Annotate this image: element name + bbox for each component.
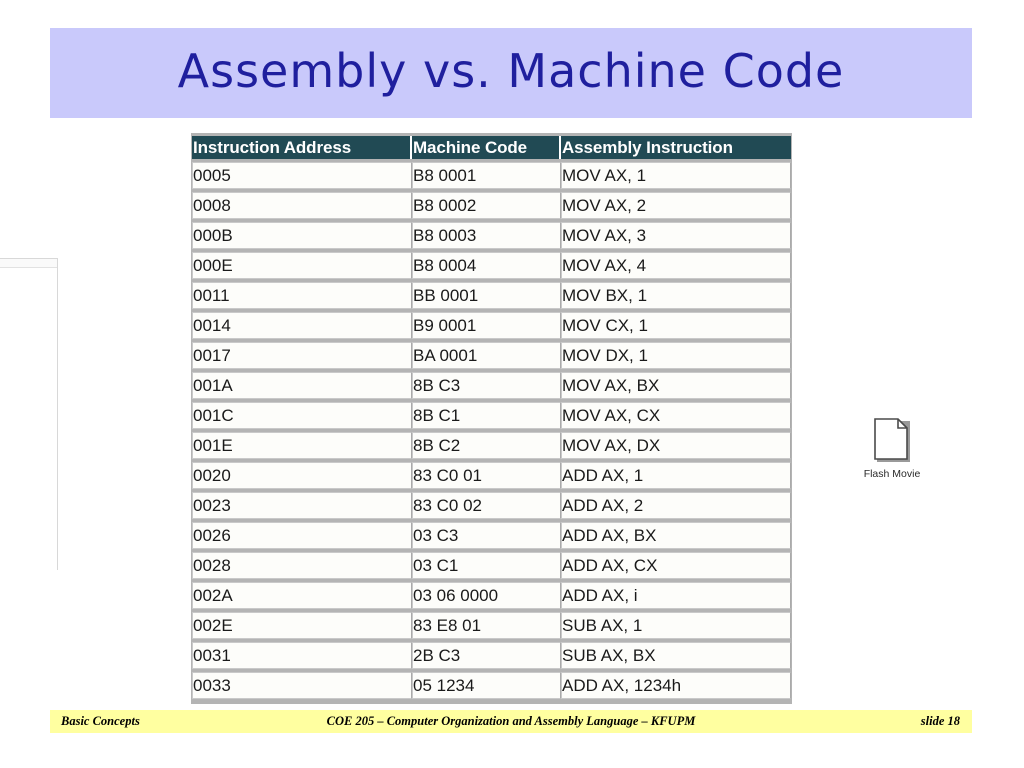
cell-assembly-instruction: MOV AX, 1 [561, 162, 791, 189]
flash-movie-label: Flash Movie [858, 468, 926, 480]
cell-assembly-instruction: ADD AX, 1 [561, 462, 791, 489]
cell-assembly-instruction: MOV AX, BX [561, 372, 791, 399]
cell-instruction-address: 0014 [192, 312, 412, 339]
cell-machine-code: 83 C0 02 [412, 492, 561, 519]
cell-instruction-address: 0017 [192, 342, 412, 369]
table-row: 0011BB 0001MOV BX, 1 [192, 282, 791, 309]
cell-machine-code: 2B C3 [412, 642, 561, 669]
table-body: 0005B8 0001MOV AX, 10008B8 0002MOV AX, 2… [192, 162, 791, 699]
cell-assembly-instruction: MOV AX, CX [561, 402, 791, 429]
table-row: 000EB8 0004MOV AX, 4 [192, 252, 791, 279]
cell-instruction-address: 0008 [192, 192, 412, 219]
cell-instruction-address: 0020 [192, 462, 412, 489]
cell-machine-code: 03 C1 [412, 552, 561, 579]
cell-machine-code: B8 0004 [412, 252, 561, 279]
table-row: 002083 C0 01ADD AX, 1 [192, 462, 791, 489]
cell-machine-code: 03 06 0000 [412, 582, 561, 609]
cell-instruction-address: 001C [192, 402, 412, 429]
background-window-titlebar [0, 259, 57, 268]
cell-machine-code: B8 0003 [412, 222, 561, 249]
column-header-machine-code: Machine Code [412, 136, 561, 159]
cell-instruction-address: 000B [192, 222, 412, 249]
table-row: 0017BA 0001MOV DX, 1 [192, 342, 791, 369]
cell-instruction-address: 0033 [192, 672, 412, 699]
cell-assembly-instruction: MOV AX, 3 [561, 222, 791, 249]
cell-machine-code: BB 0001 [412, 282, 561, 309]
cell-assembly-instruction: ADD AX, i [561, 582, 791, 609]
cell-instruction-address: 0023 [192, 492, 412, 519]
cell-machine-code: BA 0001 [412, 342, 561, 369]
table-row: 0014B9 0001MOV CX, 1 [192, 312, 791, 339]
cell-machine-code: 8B C3 [412, 372, 561, 399]
table-row: 0005B8 0001MOV AX, 1 [192, 162, 791, 189]
cell-instruction-address: 001E [192, 432, 412, 459]
cell-assembly-instruction: MOV DX, 1 [561, 342, 791, 369]
cell-assembly-instruction: ADD AX, BX [561, 522, 791, 549]
cell-machine-code: 03 C3 [412, 522, 561, 549]
column-header-assembly-instruction: Assembly Instruction [561, 136, 791, 159]
slide-footer: Basic Concepts COE 205 – Computer Organi… [50, 710, 972, 733]
background-window-body [0, 268, 57, 578]
column-header-instruction-address: Instruction Address [192, 136, 412, 159]
cell-instruction-address: 0028 [192, 552, 412, 579]
table-row: 002803 C1ADD AX, CX [192, 552, 791, 579]
cell-assembly-instruction: MOV AX, 4 [561, 252, 791, 279]
table-row: 001A8B C3MOV AX, BX [192, 372, 791, 399]
cell-machine-code: 8B C1 [412, 402, 561, 429]
cell-machine-code: B9 0001 [412, 312, 561, 339]
footer-center-text: COE 205 – Computer Organization and Asse… [50, 714, 972, 729]
document-icon[interactable] [874, 418, 910, 462]
cell-assembly-instruction: ADD AX, 2 [561, 492, 791, 519]
table-row: 00312B C3SUB AX, BX [192, 642, 791, 669]
cell-assembly-instruction: ADD AX, CX [561, 552, 791, 579]
cell-instruction-address: 0011 [192, 282, 412, 309]
cell-assembly-instruction: SUB AX, BX [561, 642, 791, 669]
cell-machine-code: 05 1234 [412, 672, 561, 699]
table-row: 002A03 06 0000ADD AX, i [192, 582, 791, 609]
table-row: 0008B8 0002MOV AX, 2 [192, 192, 791, 219]
background-window-artifact [0, 258, 58, 570]
cell-machine-code: 83 C0 01 [412, 462, 561, 489]
cell-instruction-address: 0026 [192, 522, 412, 549]
document-icon-glyph [874, 418, 910, 462]
cell-instruction-address: 000E [192, 252, 412, 279]
table-row: 001C8B C1MOV AX, CX [192, 402, 791, 429]
page-title: Assembly vs. Machine Code [50, 44, 972, 98]
table-row: 000BB8 0003MOV AX, 3 [192, 222, 791, 249]
cell-machine-code: B8 0002 [412, 192, 561, 219]
cell-assembly-instruction: SUB AX, 1 [561, 612, 791, 639]
table-row: 002383 C0 02ADD AX, 2 [192, 492, 791, 519]
cell-assembly-instruction: ADD AX, 1234h [561, 672, 791, 699]
cell-assembly-instruction: MOV BX, 1 [561, 282, 791, 309]
table-row: 001E8B C2MOV AX, DX [192, 432, 791, 459]
table-header-row: Instruction Address Machine Code Assembl… [192, 136, 791, 159]
cell-assembly-instruction: MOV AX, 2 [561, 192, 791, 219]
instruction-table: Instruction Address Machine Code Assembl… [191, 133, 792, 704]
slide-title-band: Assembly vs. Machine Code [50, 28, 972, 118]
cell-machine-code: 83 E8 01 [412, 612, 561, 639]
cell-instruction-address: 002E [192, 612, 412, 639]
cell-machine-code: 8B C2 [412, 432, 561, 459]
table-row: 002603 C3ADD AX, BX [192, 522, 791, 549]
footer-slide-number: slide 18 [921, 714, 960, 729]
cell-assembly-instruction: MOV CX, 1 [561, 312, 791, 339]
cell-instruction-address: 0005 [192, 162, 412, 189]
table-row: 003305 1234ADD AX, 1234h [192, 672, 791, 699]
cell-assembly-instruction: MOV AX, DX [561, 432, 791, 459]
cell-machine-code: B8 0001 [412, 162, 561, 189]
table-row: 002E83 E8 01SUB AX, 1 [192, 612, 791, 639]
flash-movie-object[interactable]: Flash Movie [858, 418, 926, 480]
cell-instruction-address: 001A [192, 372, 412, 399]
cell-instruction-address: 002A [192, 582, 412, 609]
cell-instruction-address: 0031 [192, 642, 412, 669]
